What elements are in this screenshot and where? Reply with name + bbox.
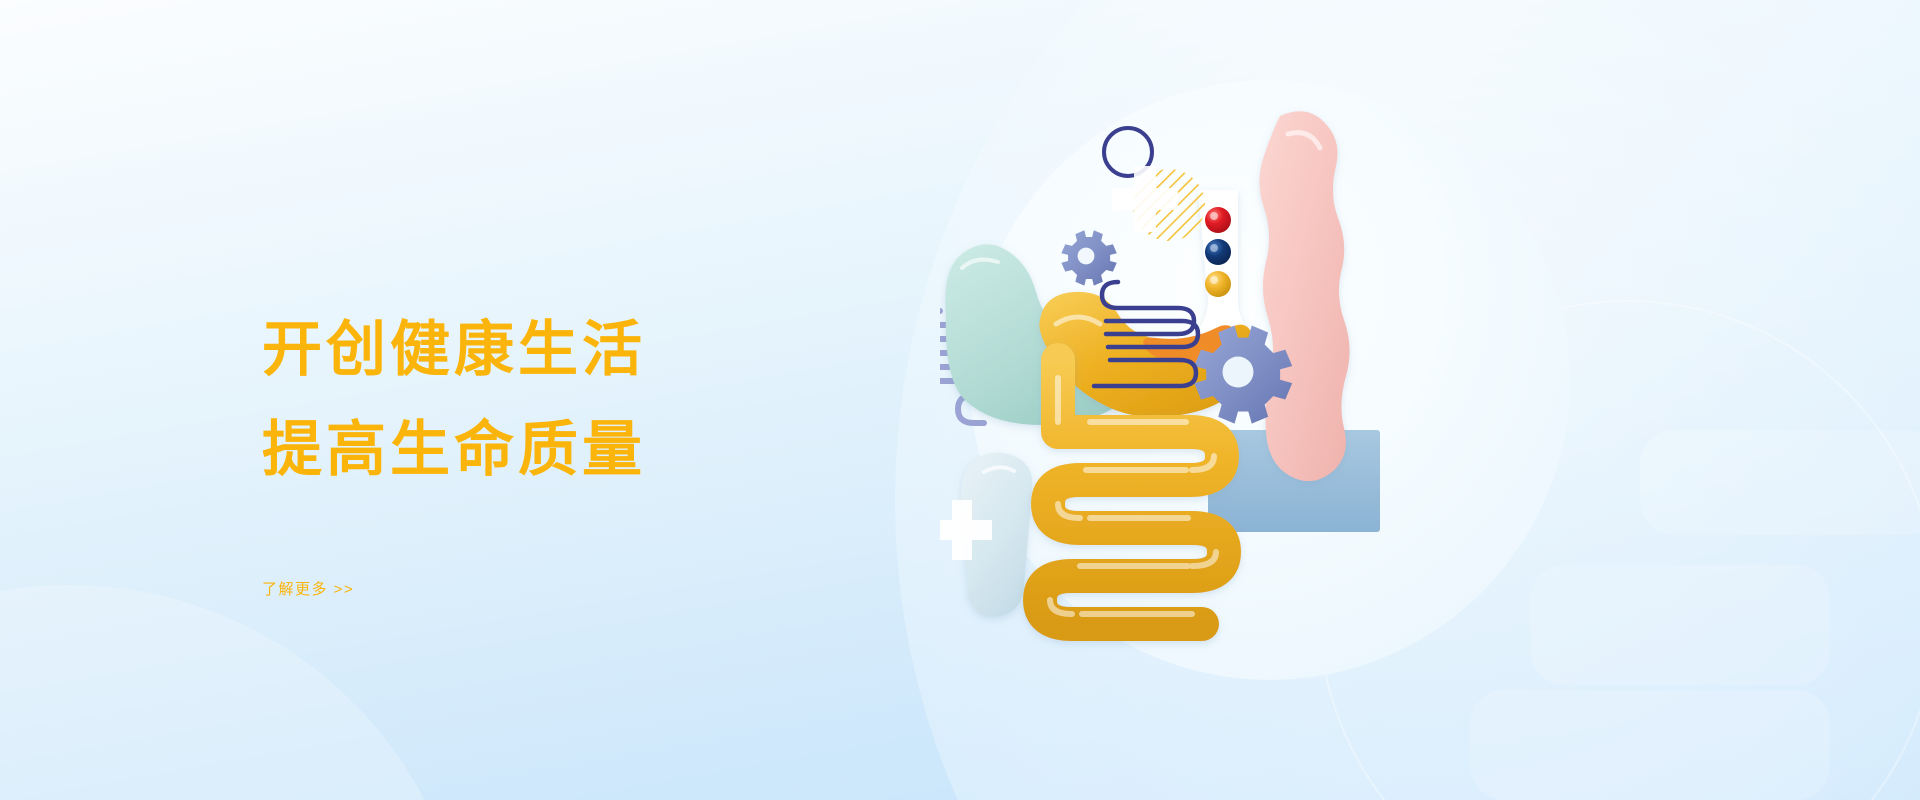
headline-line-2: 提高生命质量 [262, 400, 882, 500]
pill-gloss [1210, 244, 1218, 252]
hero-banner: 开创健康生活 提高生命质量 了解更多 >> [0, 0, 1920, 800]
learn-more-link[interactable]: 了解更多 >> [262, 578, 354, 599]
pill-amber-icon [1205, 271, 1231, 297]
headline-line-1: 开创健康生活 [262, 300, 882, 400]
pill-navy-icon [1205, 239, 1231, 265]
hero-copy: 开创健康生活 提高生命质量 了解更多 >> [262, 300, 882, 599]
digestive-system-illustration [940, 60, 1620, 740]
background-rounded-rect [1640, 430, 1920, 535]
colon-shape [1260, 111, 1350, 481]
gear-small-icon [1061, 230, 1116, 285]
pill-red-icon [1205, 207, 1231, 233]
pill-gloss [1210, 276, 1218, 284]
background-corner-blob [0, 585, 470, 800]
pill-gloss [1210, 212, 1218, 220]
illustration-svg [940, 60, 1620, 740]
